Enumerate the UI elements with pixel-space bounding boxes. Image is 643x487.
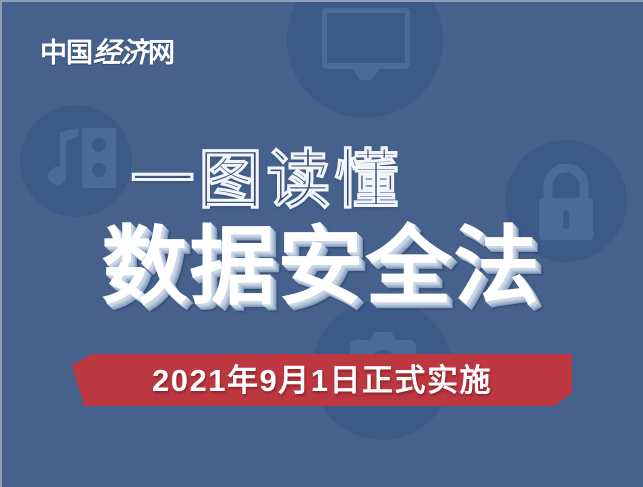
publisher-logo[interactable]: 中国 经济 网 bbox=[40, 40, 174, 68]
effective-date-text: 2021年9月1日正式实施 bbox=[152, 365, 492, 396]
page-title: 数据安全法 bbox=[0, 224, 643, 310]
logo-text-tail: 网 bbox=[148, 40, 174, 67]
logo-text-cursive: 经济 bbox=[93, 40, 147, 68]
effective-date-banner: 2021年9月1日正式实施 bbox=[72, 354, 572, 406]
monitor-icon bbox=[322, 8, 410, 82]
poster-canvas: 中国 经济 网 一图读懂 数据安全法 2021年9月1日正式实施 bbox=[0, 0, 643, 487]
headline-block: 一图读懂 数据安全法 bbox=[0, 148, 643, 310]
kicker-text: 一图读懂 bbox=[0, 148, 643, 212]
logo-text-lead: 中国 bbox=[40, 40, 92, 67]
